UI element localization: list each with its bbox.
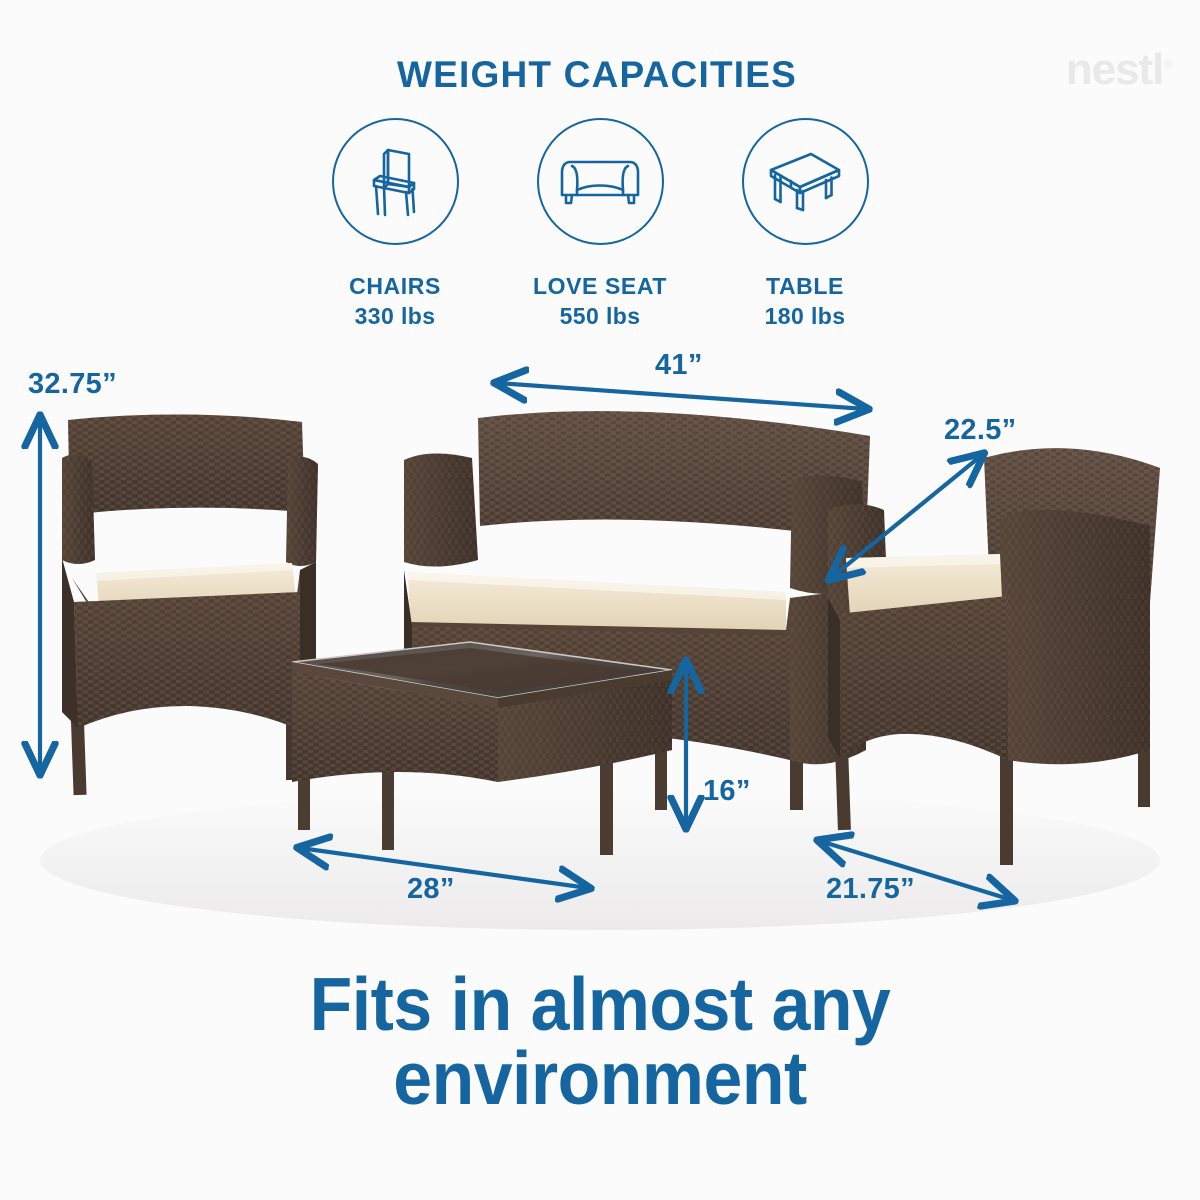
dimension-label-chair-depth: 22.5” xyxy=(944,414,1016,447)
headline: Fits in almost any environment xyxy=(42,968,1158,1115)
headline-line-2: environment xyxy=(42,1042,1158,1116)
dimension-label-chair-height: 32.75” xyxy=(28,368,117,401)
arrow-loveseat-width xyxy=(497,383,866,409)
infographic-canvas: nestl® WEIGHT CAPACITIES xyxy=(0,0,1200,1200)
dimension-label-table-width: 28” xyxy=(407,873,455,906)
dimension-label-chair-width: 21.75” xyxy=(826,873,915,906)
headline-line-1: Fits in almost any xyxy=(310,962,891,1046)
dimension-label-table-height: 16” xyxy=(703,775,751,808)
dimension-label-loveseat-width: 41” xyxy=(655,349,703,382)
arrow-chair-depth xyxy=(831,455,982,578)
